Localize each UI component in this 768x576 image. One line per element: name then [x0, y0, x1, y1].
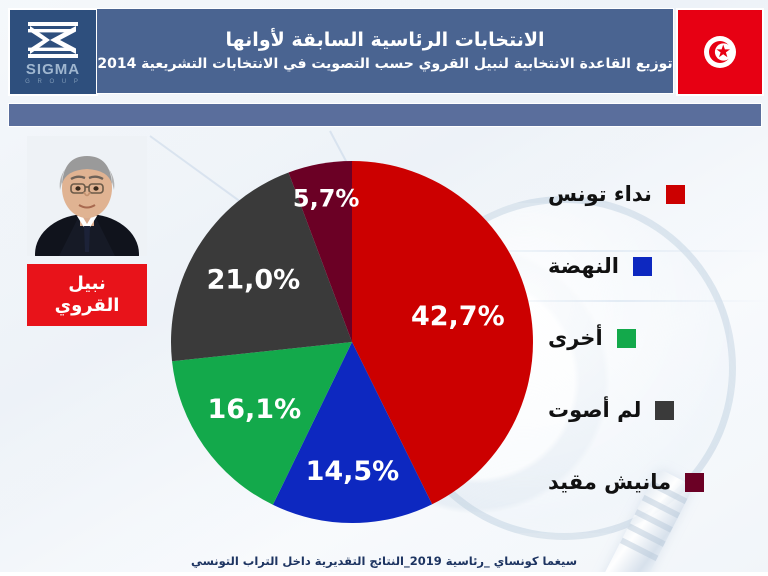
candidate-name-line-2: القروي [55, 295, 120, 318]
footer-caption: سيغما كونساي _رئاسية 2019_النتائج التقدي… [191, 554, 577, 568]
legend-item-label: أخرى [548, 326, 603, 350]
legend-color-swatch [685, 473, 704, 492]
pie-slice-label: 5,7% [293, 185, 360, 213]
pie-slice-label: 21,0% [207, 265, 301, 296]
legend-item-label: النهضة [548, 254, 619, 278]
logo-subtitle: G R O U P [25, 79, 81, 85]
tunisia-flag [676, 8, 764, 96]
page-subtitle: توزيع القاعدة الانتخابية لنبيل القروي حس… [97, 55, 672, 73]
header: SIGMA G R O U P الانتخابات الرئاسية السا… [8, 8, 760, 92]
pie-chart-svg: 42,7%14,5%16,1%21,0%5,7% [168, 158, 536, 526]
footer-rule [0, 572, 768, 576]
legend-item[interactable]: نداء تونس [548, 172, 760, 216]
legend-color-swatch [655, 401, 674, 420]
portrait-illustration [27, 136, 147, 256]
candidate-photo [27, 136, 147, 256]
sigma-logo-icon [26, 20, 80, 60]
accent-bar [8, 103, 762, 127]
legend-item-label: مانيش مقيد [548, 470, 671, 494]
legend-item[interactable]: مانيش مقيد [548, 460, 760, 504]
candidate-name-line-1: نبيل [68, 273, 106, 296]
footer: سيغما كونساي _رئاسية 2019_النتائج التقدي… [0, 549, 768, 573]
legend-color-swatch [633, 257, 652, 276]
legend-item[interactable]: لم أصوت [548, 388, 760, 432]
sigma-logo[interactable]: SIGMA G R O U P [8, 8, 98, 96]
legend-item[interactable]: أخرى [548, 316, 760, 360]
logo-wordmark: SIGMA [26, 62, 80, 77]
legend-color-swatch [666, 185, 685, 204]
pie-chart: 42,7%14,5%16,1%21,0%5,7% [168, 158, 536, 526]
legend-item-label: نداء تونس [548, 182, 652, 206]
page-title: الانتخابات الرئاسية السابقة لأوانها [226, 29, 545, 53]
legend-item[interactable]: النهضة [548, 244, 760, 288]
candidate-name-plate: نبيل القروي [27, 264, 147, 326]
title-banner: الانتخابات الرئاسية السابقة لأوانها توزي… [96, 8, 674, 94]
pie-slice-label: 42,7% [411, 301, 505, 332]
chart-legend: نداء تونسالنهضةأخرىلم أصوتمانيش مقيد [548, 172, 760, 498]
legend-item-label: لم أصوت [548, 398, 641, 422]
tunisia-flag-icon [697, 29, 743, 75]
slide-canvas: SIGMA G R O U P الانتخابات الرئاسية السا… [0, 0, 768, 576]
candidate-card: نبيل القروي [27, 136, 147, 336]
pie-slice-label: 16,1% [207, 394, 301, 425]
legend-color-swatch [617, 329, 636, 348]
pie-slice-label: 14,5% [306, 456, 400, 487]
